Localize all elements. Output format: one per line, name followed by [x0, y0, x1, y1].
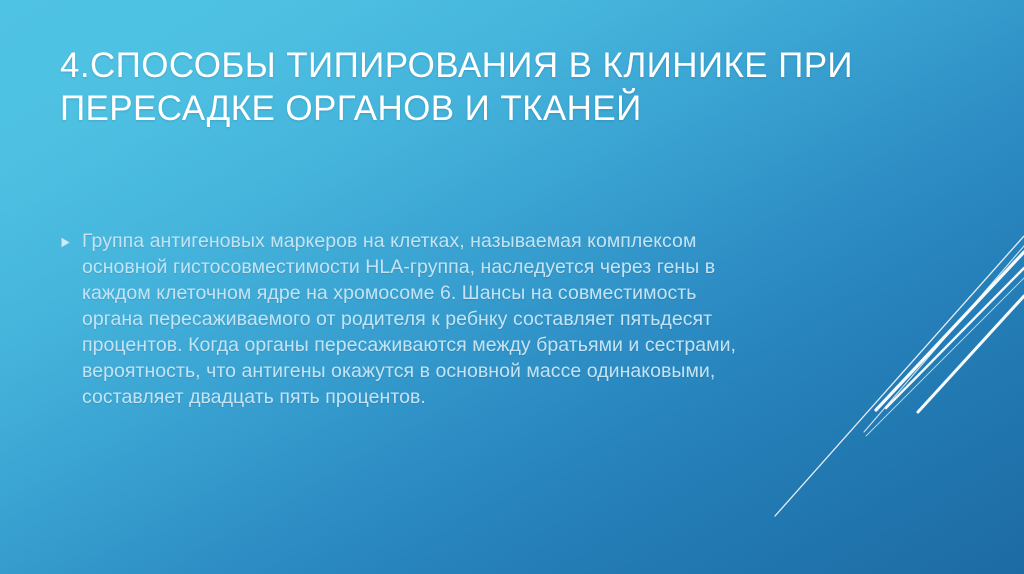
page-title: 4.Способы типирования в клинике при пере… — [60, 44, 860, 130]
triangle-right-bullet-icon — [60, 228, 82, 248]
slide-content-block: Группа антигеновых маркеров на клетках, … — [60, 228, 760, 410]
list-item: Группа антигеновых маркеров на клетках, … — [60, 228, 760, 410]
list-item-text: Группа антигеновых маркеров на клетках, … — [82, 228, 760, 410]
presentation-slide: 4.Способы типирования в клинике при пере… — [0, 0, 1024, 574]
slide-title-block: 4.Способы типирования в клинике при пере… — [60, 44, 860, 130]
